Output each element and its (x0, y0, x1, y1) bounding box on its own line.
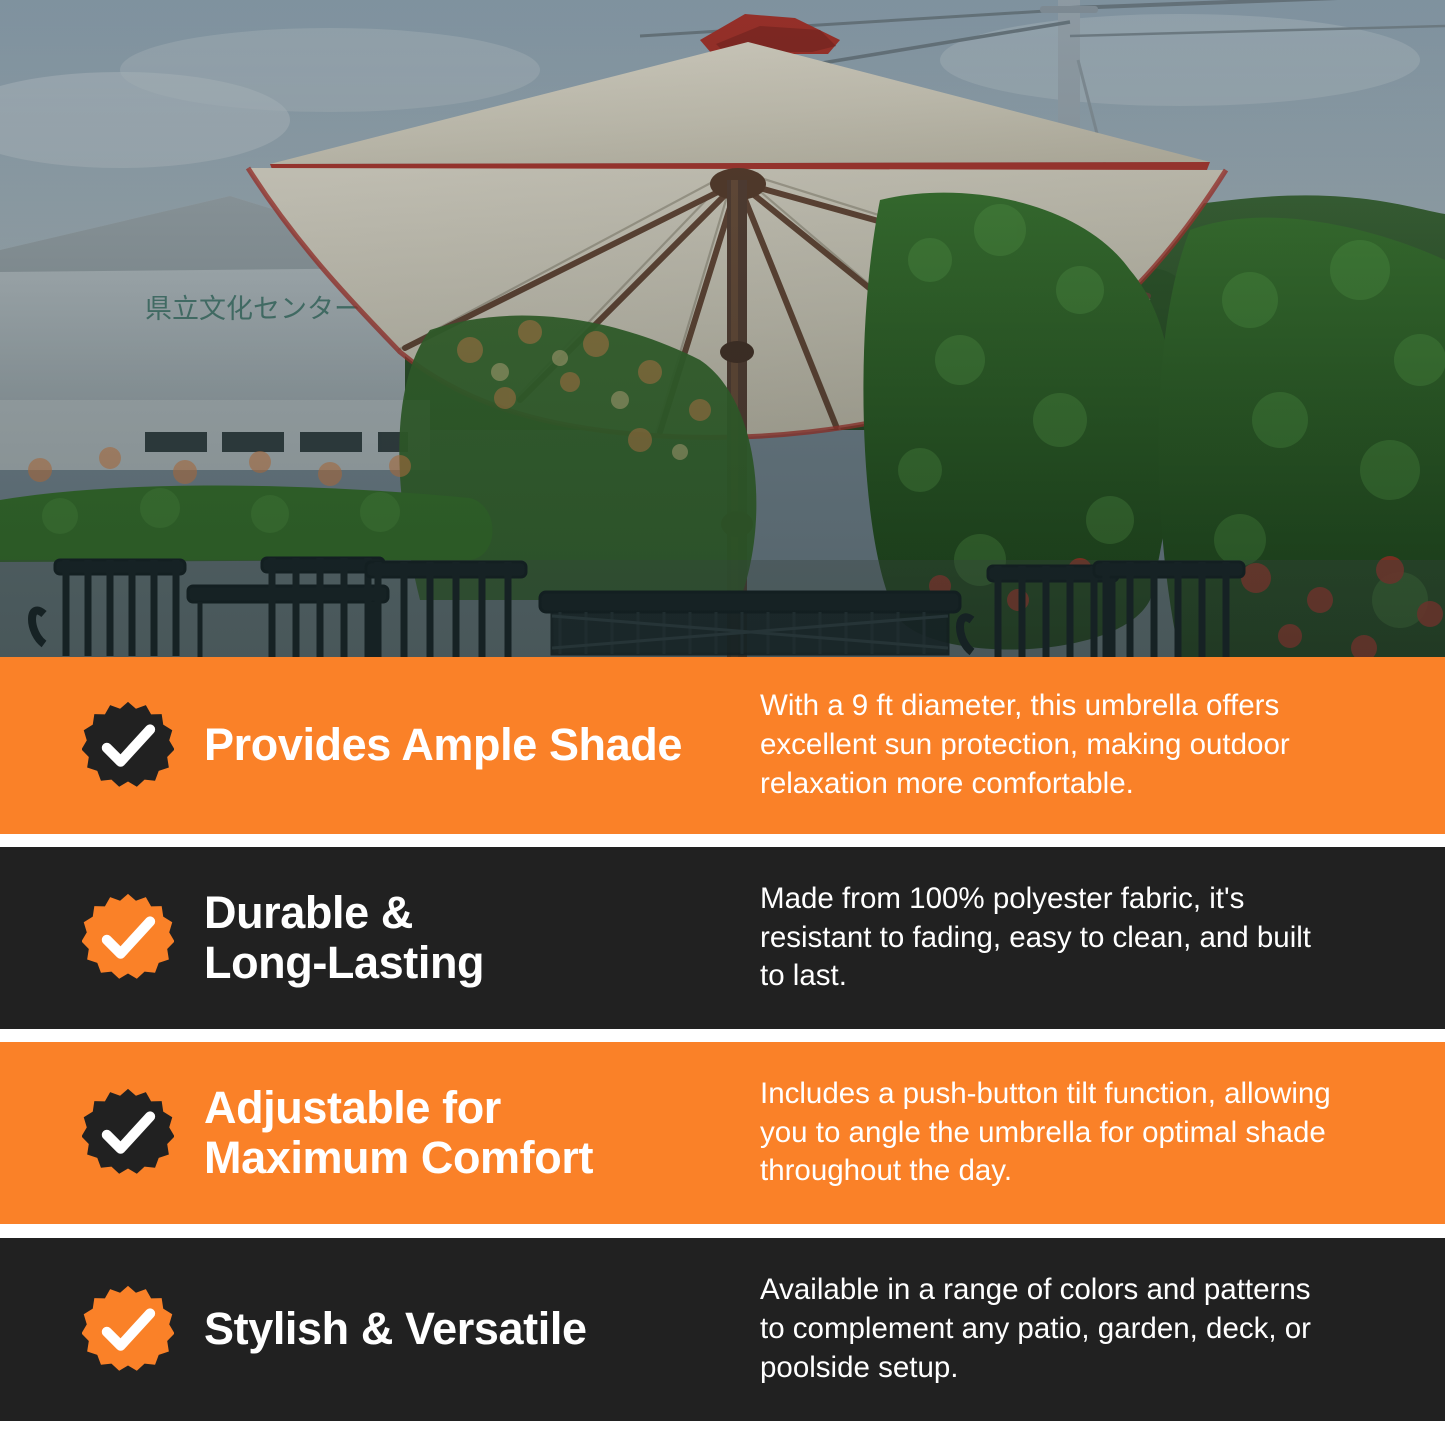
check-badge-icon (82, 700, 174, 792)
feature-3-label-cell: Adjustable for Maximum Comfort (0, 1083, 760, 1184)
patio-umbrella-scene: 県立文化センター (0, 0, 1445, 657)
check-badge-glyph (82, 700, 174, 792)
feature-3-description-cell: Includes a push-button tilt function, al… (760, 1075, 1445, 1192)
feature-row-3: Adjustable for Maximum Comfort Includes … (0, 1042, 1445, 1224)
feature-1-description-cell: With a 9 ft diameter, this umbrella offe… (760, 687, 1445, 804)
feature-row-1: Provides Ample Shade With a 9 ft diamete… (0, 657, 1445, 834)
check-badge-glyph (82, 1284, 174, 1376)
check-badge-icon (82, 892, 174, 984)
feature-1-heading: Provides Ample Shade (204, 720, 682, 770)
feature-4-description: Available in a range of colors and patte… (760, 1271, 1340, 1388)
check-badge-icon (82, 1284, 174, 1376)
feature-1-description: With a 9 ft diameter, this umbrella offe… (760, 687, 1340, 804)
feature-3-heading: Adjustable for Maximum Comfort (204, 1083, 593, 1184)
feature-2-label-cell: Durable & Long-Lasting (0, 888, 760, 989)
feature-2-description: Made from 100% polyester fabric, it's re… (760, 880, 1340, 997)
feature-row-4: Stylish & Versatile Available in a range… (0, 1238, 1445, 1421)
check-badge-glyph (82, 892, 174, 984)
feature-4-heading: Stylish & Versatile (204, 1304, 587, 1354)
feature-4-label-cell: Stylish & Versatile (0, 1284, 760, 1376)
feature-2-description-cell: Made from 100% polyester fabric, it's re… (760, 880, 1445, 997)
feature-3-description: Includes a push-button tilt function, al… (760, 1075, 1340, 1192)
hero-product-photo: 県立文化センター (0, 0, 1445, 657)
feature-2-heading: Durable & Long-Lasting (204, 888, 484, 989)
product-feature-infographic: 県立文化センター (0, 0, 1445, 1445)
check-badge-glyph (82, 1087, 174, 1179)
feature-row-2: Durable & Long-Lasting Made from 100% po… (0, 847, 1445, 1029)
check-badge-icon (82, 1087, 174, 1179)
feature-4-description-cell: Available in a range of colors and patte… (760, 1271, 1445, 1388)
feature-1-label-cell: Provides Ample Shade (0, 700, 760, 792)
